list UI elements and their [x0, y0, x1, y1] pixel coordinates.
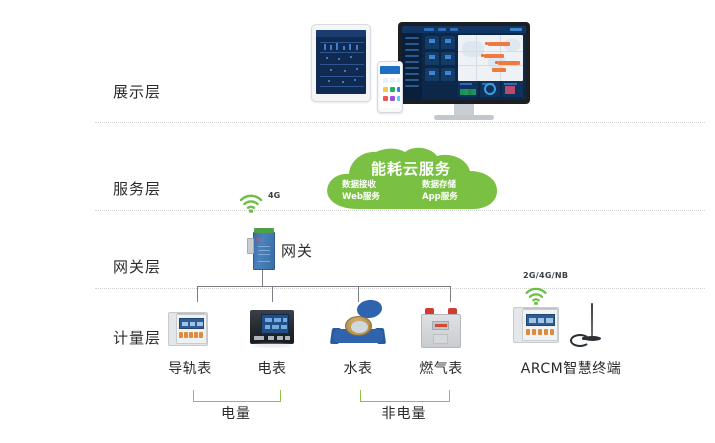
- water-meter-label: 水表: [328, 358, 388, 378]
- desktop-monitor-device: [398, 22, 530, 104]
- bracket-non-electric-quantity: [360, 390, 450, 402]
- tablet-screen: [316, 30, 366, 94]
- water-meter-icon: [331, 300, 385, 350]
- arcm-terminal-icon: [513, 305, 565, 349]
- din-rail-meter-icon: [168, 309, 212, 349]
- cloud-service-1-line2: Web服务: [342, 192, 380, 203]
- arcm-terminal-label: ARCM智慧终端: [516, 358, 626, 378]
- din-rail-meter-label: 导轨表: [160, 358, 220, 378]
- layer-label-metering: 计量层: [113, 327, 161, 348]
- smartphone-screen: [380, 66, 400, 108]
- terminal-network-label: 2G/4G/NB: [523, 271, 568, 280]
- architecture-diagram: 展示层 服务层 网关层 计量层: [0, 0, 715, 443]
- gas-meter-icon: [419, 308, 463, 350]
- tablet-device: [311, 24, 371, 102]
- gateway-network-label: 4G: [268, 191, 280, 200]
- bracket-non-electric-quantity-label: 非电量: [360, 403, 448, 423]
- connector-drop-din: [197, 286, 198, 302]
- connector-drop-gas: [450, 286, 451, 302]
- bracket-electric-quantity-label: 电量: [193, 403, 279, 423]
- electricity-meter-label: 电表: [242, 358, 302, 378]
- bracket-electric-quantity: [193, 390, 281, 402]
- layer-label-service: 服务层: [113, 178, 161, 199]
- dashboard-map-panel: [458, 35, 523, 81]
- monitor-dashboard-screen: [402, 26, 526, 100]
- electricity-meter-icon: [250, 310, 294, 348]
- connector-drop-electricity: [272, 286, 273, 302]
- cloud-service-2-line1: 数据存储: [422, 180, 456, 191]
- energy-cloud-service: 能耗云服务 数据接收 Web服务 数据存储 App服务: [318, 147, 504, 213]
- gateway-device: [247, 228, 277, 270]
- gas-meter-label: 燃气表: [411, 358, 471, 378]
- layer-label-gateway: 网关层: [113, 256, 161, 277]
- connector-bus: [197, 286, 450, 287]
- gateway-label: 网关: [281, 240, 313, 261]
- antenna-icon: [568, 303, 608, 349]
- wifi-signal-icon: [524, 287, 548, 305]
- cloud-service-2-line2: App服务: [422, 192, 458, 203]
- connector-gateway-stem: [262, 270, 263, 286]
- divider-gateway-metering: [95, 288, 705, 289]
- cloud-service-1-line1: 数据接收: [342, 180, 376, 191]
- divider-display-service: [95, 122, 705, 123]
- layer-label-display: 展示层: [113, 81, 161, 102]
- cloud-title: 能耗云服务: [318, 158, 504, 179]
- smartphone-device: [377, 61, 403, 113]
- wifi-signal-icon: [238, 193, 264, 213]
